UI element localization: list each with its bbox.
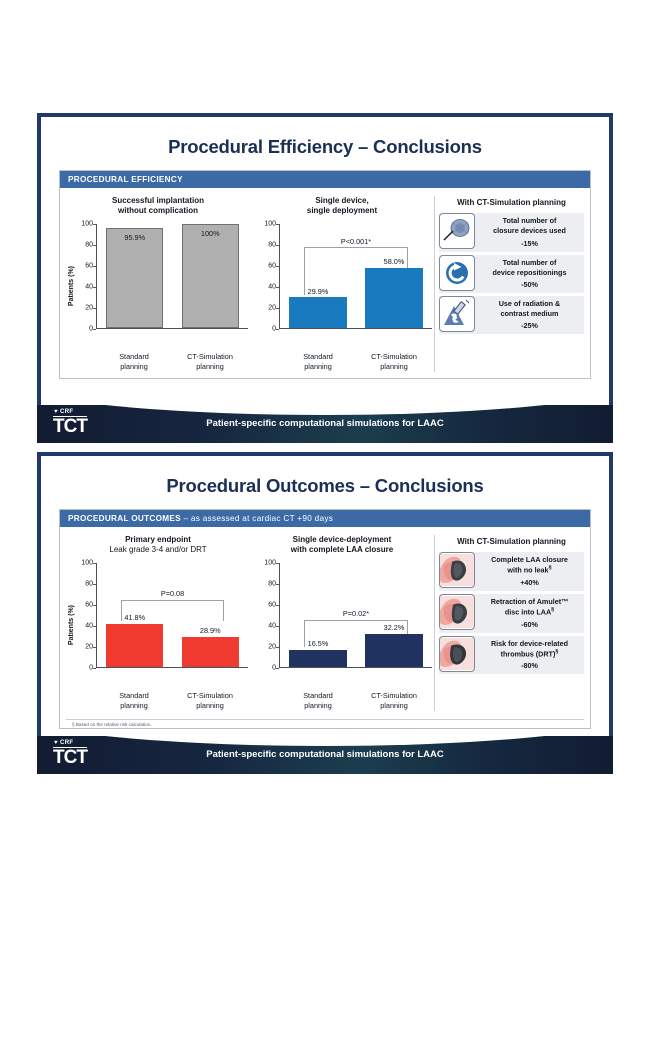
x-category: Standard planning bbox=[99, 350, 169, 372]
page-title: Procedural Outcomes – Conclusions bbox=[41, 456, 609, 497]
y-tick: 40 bbox=[268, 284, 276, 291]
panel-header-main: PROCEDURAL OUTCOMES bbox=[68, 514, 181, 523]
slide-procedural-outcomes: Procedural Outcomes – Conclusions PROCED… bbox=[37, 452, 613, 774]
summary-text: Use of radiation & contrast medium -25% bbox=[475, 296, 584, 334]
summary-line1: Retraction of Amulet™ bbox=[477, 597, 582, 607]
summary-row[interactable]: Total number of device repositionings -5… bbox=[439, 255, 584, 293]
y-tick: 20 bbox=[268, 644, 276, 651]
charts-container: Successful implantation without complica… bbox=[66, 196, 434, 372]
summary-text: Complete LAA closure with no leak§ +40% bbox=[475, 552, 584, 591]
x-category: CT-Simulation planning bbox=[175, 350, 245, 372]
crf-logo: ♥CRF bbox=[53, 740, 87, 746]
y-tick: 60 bbox=[85, 602, 93, 609]
footnote: § Based on the relative risk calculation… bbox=[66, 719, 584, 728]
x-category-line2: planning bbox=[99, 701, 169, 711]
footer-swoosh bbox=[37, 405, 613, 415]
chart-title: Successful implantation without complica… bbox=[68, 196, 248, 218]
y-tick: 40 bbox=[85, 284, 93, 291]
bar-group[interactable]: 41.8% bbox=[106, 563, 163, 667]
summary-line2: thrombus (DRT)§ bbox=[477, 649, 582, 659]
chart-title-line2: with complete LAA closure bbox=[252, 545, 432, 555]
footer-swoosh bbox=[37, 736, 613, 746]
reposition-arrow-icon bbox=[439, 255, 475, 291]
panel-header-main: PROCEDURAL EFFICIENCY bbox=[68, 175, 183, 184]
bar-value-label: 32.2% bbox=[356, 623, 431, 632]
summary-line2-sup: § bbox=[549, 565, 552, 571]
summary-row[interactable]: Use of radiation & contrast medium -25% bbox=[439, 296, 584, 334]
y-tick: 20 bbox=[85, 305, 93, 312]
x-category-line2: planning bbox=[283, 701, 353, 711]
crf-label: CRF bbox=[60, 409, 74, 415]
chart-area: Patients (%) 100 80 60 40 20 0 bbox=[68, 222, 248, 350]
radiation-syringe-icon bbox=[439, 296, 475, 332]
summary-delta: -60% bbox=[477, 618, 582, 630]
footer-caption: Patient-specific computational simulatio… bbox=[37, 749, 613, 760]
laa-amulet-disc-icon bbox=[439, 594, 475, 630]
chart-single-device-deployment: Single device, single deployment 100 80 … bbox=[250, 196, 434, 372]
chart-successful-implantation: Successful implantation without complica… bbox=[66, 196, 250, 372]
y-tick: 40 bbox=[85, 623, 93, 630]
bar bbox=[106, 624, 163, 667]
laa-closure-icon bbox=[439, 552, 475, 588]
y-tick: 80 bbox=[85, 242, 93, 249]
y-tick: 60 bbox=[85, 263, 93, 270]
bar-group[interactable]: 100% bbox=[182, 224, 239, 328]
summary-text: Retraction of Amulet™ disc into LAA§ -60… bbox=[475, 594, 584, 633]
bar bbox=[106, 228, 163, 328]
chart-title: Primary endpoint Leak grade 3-4 and/or D… bbox=[68, 535, 248, 557]
x-category-line1: Standard bbox=[99, 691, 169, 701]
summary-row[interactable]: Complete LAA closure with no leak§ +40% bbox=[439, 552, 584, 591]
bar-value-label: 58.0% bbox=[356, 257, 431, 266]
summary-line1: Complete LAA closure bbox=[477, 555, 582, 565]
summary-line2-sup: § bbox=[555, 649, 558, 655]
x-axis-categories: Standard planning CT-Simulation planning bbox=[280, 689, 432, 711]
x-category: Standard planning bbox=[283, 350, 353, 372]
x-category-line2: planning bbox=[99, 362, 169, 372]
chart-title-line1: Single device, bbox=[252, 196, 432, 206]
summary-row[interactable]: Retraction of Amulet™ disc into LAA§ -60… bbox=[439, 594, 584, 633]
y-axis-label: Patients (%) bbox=[68, 605, 79, 645]
crf-label: CRF bbox=[60, 740, 74, 746]
summary-line2-text: with no leak bbox=[507, 566, 548, 575]
chart-area: 100 80 60 40 20 0 P=0.02* bbox=[252, 561, 432, 689]
plot-area: P<0.001* 29.9% 58.0% bbox=[279, 224, 432, 329]
bar-value-label: 28.9% bbox=[173, 626, 248, 635]
heart-icon: ♥ bbox=[54, 409, 58, 415]
slide-procedural-efficiency: Procedural Efficiency – Conclusions PROC… bbox=[37, 113, 613, 443]
chart-area: Patients (%) 100 80 60 40 20 0 bbox=[68, 561, 248, 689]
x-axis-categories: Standard planning CT-Simulation planning bbox=[96, 689, 248, 711]
y-tick: 100 bbox=[81, 560, 93, 567]
plot-area: 95.9% 100% bbox=[96, 224, 248, 329]
y-axis: 100 80 60 40 20 0 bbox=[79, 224, 96, 329]
summary-delta: -50% bbox=[477, 278, 582, 290]
x-category-line2: planning bbox=[359, 701, 429, 711]
bar bbox=[289, 650, 347, 667]
x-axis-categories: Standard planning CT-Simulation planning bbox=[280, 350, 432, 372]
summary-line2: with no leak§ bbox=[477, 565, 582, 575]
page-title: Procedural Efficiency – Conclusions bbox=[41, 117, 609, 158]
summary-line2-text: disc into LAA bbox=[505, 607, 551, 616]
y-tick: 40 bbox=[268, 623, 276, 630]
y-tick: 100 bbox=[81, 221, 93, 228]
panel-header: PROCEDURAL OUTCOMES – as assessed at car… bbox=[60, 510, 590, 527]
summary-title: With CT-Simulation planning bbox=[439, 196, 584, 213]
x-axis-categories: Standard planning CT-Simulation planning bbox=[96, 350, 248, 372]
summary-line2: device repositionings bbox=[477, 268, 582, 278]
y-tick: 80 bbox=[268, 242, 276, 249]
tct-footer-bar: ♥CRF TCT Patient-specific computational … bbox=[37, 405, 613, 443]
plot-area: P=0.02* 16.5% 32.2% bbox=[279, 563, 432, 668]
bar bbox=[182, 224, 239, 328]
x-category-line2: planning bbox=[359, 362, 429, 372]
presentation-page: Procedural Efficiency – Conclusions PROC… bbox=[0, 0, 650, 1040]
bar-group[interactable]: 28.9% bbox=[182, 563, 239, 667]
chart-title-line1: Single device-deployment bbox=[252, 535, 432, 545]
summary-line2: disc into LAA§ bbox=[477, 607, 582, 617]
chart-title-line2: without complication bbox=[68, 206, 248, 216]
x-category-line1: CT-Simulation bbox=[359, 352, 429, 362]
x-category: Standard planning bbox=[283, 689, 353, 711]
x-category-line1: Standard bbox=[99, 352, 169, 362]
summary-row[interactable]: Risk for device-related thrombus (DRT)§ … bbox=[439, 636, 584, 675]
x-category-line2: planning bbox=[175, 701, 245, 711]
chart-title-line2: single deployment bbox=[252, 206, 432, 216]
x-category: CT-Simulation planning bbox=[359, 350, 429, 372]
x-category-line2: planning bbox=[283, 362, 353, 372]
bar bbox=[365, 634, 423, 667]
summary-line2-text: thrombus (DRT) bbox=[501, 649, 556, 658]
y-tick: 80 bbox=[85, 581, 93, 588]
summary-delta: +40% bbox=[477, 576, 582, 588]
footer-caption: Patient-specific computational simulatio… bbox=[37, 418, 613, 429]
bar-value-label: 95.9% bbox=[106, 233, 163, 242]
x-category-line1: CT-Simulation bbox=[175, 691, 245, 701]
panel-body: Primary endpoint Leak grade 3-4 and/or D… bbox=[60, 527, 590, 717]
chart-area: 100 80 60 40 20 0 P<0.001* bbox=[252, 222, 432, 350]
panel-header: PROCEDURAL EFFICIENCY bbox=[60, 171, 590, 188]
x-category-line1: CT-Simulation bbox=[175, 352, 245, 362]
x-category: Standard planning bbox=[99, 689, 169, 711]
chart-complete-laa-closure: Single device-deployment with complete L… bbox=[250, 535, 434, 711]
charts-container: Primary endpoint Leak grade 3-4 and/or D… bbox=[66, 535, 434, 711]
bar bbox=[289, 297, 347, 328]
tct-footer-bar: ♥CRF TCT Patient-specific computational … bbox=[37, 736, 613, 774]
bar-value-label: 100% bbox=[182, 229, 239, 238]
summary-text: Total number of closure devices used -15… bbox=[475, 213, 584, 251]
x-category-line1: Standard bbox=[283, 691, 353, 701]
bar-value-label: 16.5% bbox=[280, 639, 355, 648]
y-axis-label: Patients (%) bbox=[68, 266, 79, 306]
summary-column: With CT-Simulation planning bbox=[434, 535, 584, 711]
x-category: CT-Simulation planning bbox=[359, 689, 429, 711]
chart-title-line1: Successful implantation bbox=[68, 196, 248, 206]
panel-body: Successful implantation without complica… bbox=[60, 188, 590, 378]
bar-value-label: 41.8% bbox=[97, 613, 172, 622]
y-tick: 20 bbox=[268, 305, 276, 312]
summary-text: Risk for device-related thrombus (DRT)§ … bbox=[475, 636, 584, 675]
x-category-line1: CT-Simulation bbox=[359, 691, 429, 701]
summary-line2-sup: § bbox=[551, 607, 554, 613]
summary-column: With CT-Simulation planning bbox=[434, 196, 584, 372]
summary-delta: -25% bbox=[477, 319, 582, 331]
heart-icon: ♥ bbox=[54, 740, 58, 746]
x-category: CT-Simulation planning bbox=[175, 689, 245, 711]
summary-line1: Risk for device-related bbox=[477, 639, 582, 649]
content-panel: PROCEDURAL EFFICIENCY Successful implant… bbox=[59, 170, 591, 379]
bar-group[interactable]: 16.5% bbox=[289, 563, 347, 667]
crf-logo: ♥CRF bbox=[53, 409, 87, 415]
bar bbox=[365, 268, 423, 328]
y-tick: 60 bbox=[268, 263, 276, 270]
chart-title-line1: Primary endpoint bbox=[68, 535, 248, 545]
bar bbox=[182, 637, 239, 667]
summary-delta: -15% bbox=[477, 237, 582, 249]
summary-line2: closure devices used bbox=[477, 226, 582, 236]
summary-line1: Total number of bbox=[477, 258, 582, 268]
chart-title-line2: Leak grade 3-4 and/or DRT bbox=[68, 545, 248, 555]
bar-group[interactable]: 95.9% bbox=[106, 224, 163, 328]
chart-title: Single device, single deployment bbox=[252, 196, 432, 218]
summary-title: With CT-Simulation planning bbox=[439, 535, 584, 552]
content-panel: PROCEDURAL OUTCOMES – as assessed at car… bbox=[59, 509, 591, 729]
y-axis: 100 80 60 40 20 0 bbox=[79, 563, 96, 668]
y-tick: 80 bbox=[268, 581, 276, 588]
bar-group[interactable]: 29.9% bbox=[289, 224, 347, 328]
bar-group[interactable]: 58.0% bbox=[365, 224, 423, 328]
summary-text: Total number of device repositionings -5… bbox=[475, 255, 584, 293]
x-category-line1: Standard bbox=[283, 352, 353, 362]
summary-line1: Use of radiation & bbox=[477, 299, 582, 309]
y-axis: 100 80 60 40 20 0 bbox=[262, 224, 279, 329]
x-category-line2: planning bbox=[175, 362, 245, 372]
chart-title: Single device-deployment with complete L… bbox=[252, 535, 432, 557]
summary-row[interactable]: Total number of closure devices used -15… bbox=[439, 213, 584, 251]
y-tick: 60 bbox=[268, 602, 276, 609]
occluder-device-icon bbox=[439, 213, 475, 249]
summary-delta: -80% bbox=[477, 659, 582, 671]
chart-primary-endpoint: Primary endpoint Leak grade 3-4 and/or D… bbox=[66, 535, 250, 711]
y-tick: 20 bbox=[85, 644, 93, 651]
y-tick: 100 bbox=[264, 560, 276, 567]
summary-line1: Total number of bbox=[477, 216, 582, 226]
laa-thrombus-icon bbox=[439, 636, 475, 672]
bar-group[interactable]: 32.2% bbox=[365, 563, 423, 667]
summary-line2: contrast medium bbox=[477, 309, 582, 319]
plot-area: P=0.08 41.8% 28.9% bbox=[96, 563, 248, 668]
y-tick: 100 bbox=[264, 221, 276, 228]
bar-value-label: 29.9% bbox=[280, 287, 355, 296]
panel-header-sub: – as assessed at cardiac CT +90 days bbox=[181, 514, 333, 523]
y-axis: 100 80 60 40 20 0 bbox=[262, 563, 279, 668]
